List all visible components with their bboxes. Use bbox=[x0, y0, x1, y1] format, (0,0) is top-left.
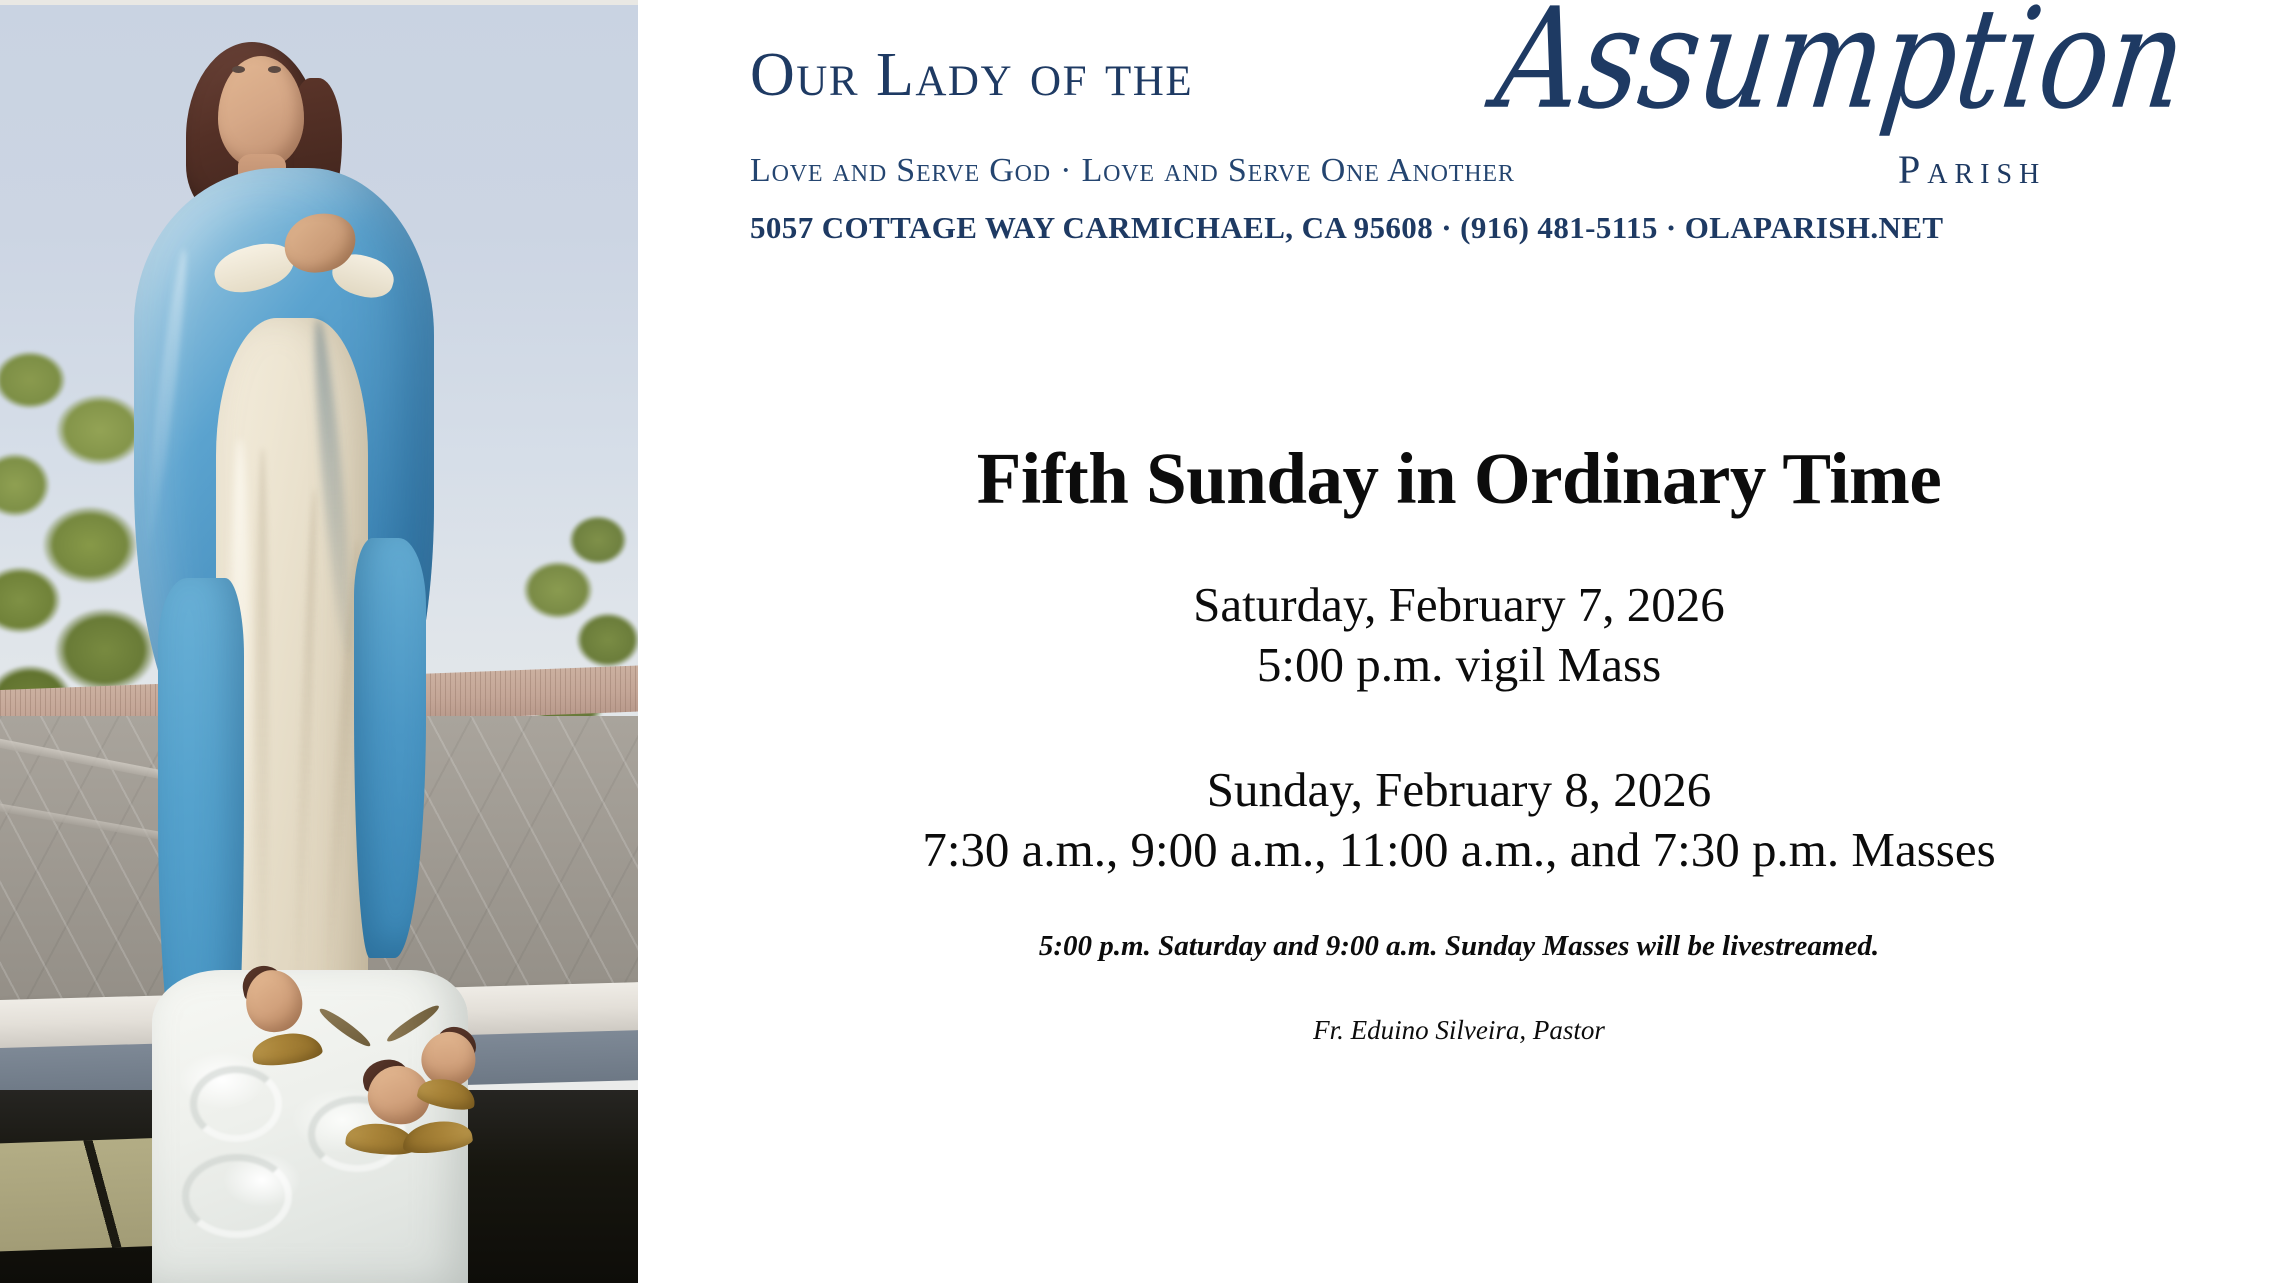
mass-schedule-saturday: Saturday, February 7, 2026 5:00 p.m. vig… bbox=[638, 575, 2280, 695]
parish-announcement-slide: Our Lady of the Assumption Love and Serv… bbox=[0, 0, 2280, 1283]
announcement-body: Fifth Sunday in Ordinary Time Saturday, … bbox=[638, 440, 2280, 1046]
logo-our-lady-of-the: Our Lady of the bbox=[750, 44, 1193, 106]
statue-eye-left bbox=[232, 66, 245, 73]
logo-assumption-script: Assumption bbox=[1490, 0, 2192, 130]
mass-schedule-sunday: Sunday, February 8, 2026 7:30 a.m., 9:00… bbox=[638, 760, 2280, 880]
content-panel: Our Lady of the Assumption Love and Serv… bbox=[638, 0, 2280, 1283]
photo-top-edge-strip bbox=[0, 0, 638, 5]
parish-logo: Our Lady of the Assumption bbox=[750, 24, 2170, 156]
pastor-signature: Fr. Eduino Silveira, Pastor bbox=[638, 1015, 2280, 1046]
mass-date-saturday: Saturday, February 7, 2026 bbox=[638, 575, 2280, 635]
parish-tagline: Love and Serve God · Love and Serve One … bbox=[750, 152, 1515, 190]
parish-masthead: Our Lady of the Assumption Love and Serv… bbox=[750, 24, 2170, 156]
robe-fold-1 bbox=[256, 448, 269, 1008]
mass-times-sunday: 7:30 a.m., 9:00 a.m., 11:00 a.m., and 7:… bbox=[638, 820, 2280, 880]
parish-address-line: 5057 COTTAGE WAY CARMICHAEL, CA 95608 · … bbox=[750, 210, 1943, 246]
cloud-swirl-1 bbox=[190, 1066, 282, 1142]
cloud-swirl-2 bbox=[182, 1154, 292, 1238]
mantle-drape-right bbox=[354, 538, 426, 958]
mass-times-saturday: 5:00 p.m. vigil Mass bbox=[638, 635, 2280, 695]
statue-photo bbox=[0, 0, 638, 1283]
mass-date-sunday: Sunday, February 8, 2026 bbox=[638, 760, 2280, 820]
logo-parish-word: Parish bbox=[1898, 146, 2046, 193]
statue-eye-right bbox=[268, 66, 281, 73]
page-title: Fifth Sunday in Ordinary Time bbox=[638, 440, 2280, 519]
livestream-note: 5:00 p.m. Saturday and 9:00 a.m. Sunday … bbox=[638, 930, 2280, 963]
virgin-mary-statue bbox=[118, 18, 448, 1283]
